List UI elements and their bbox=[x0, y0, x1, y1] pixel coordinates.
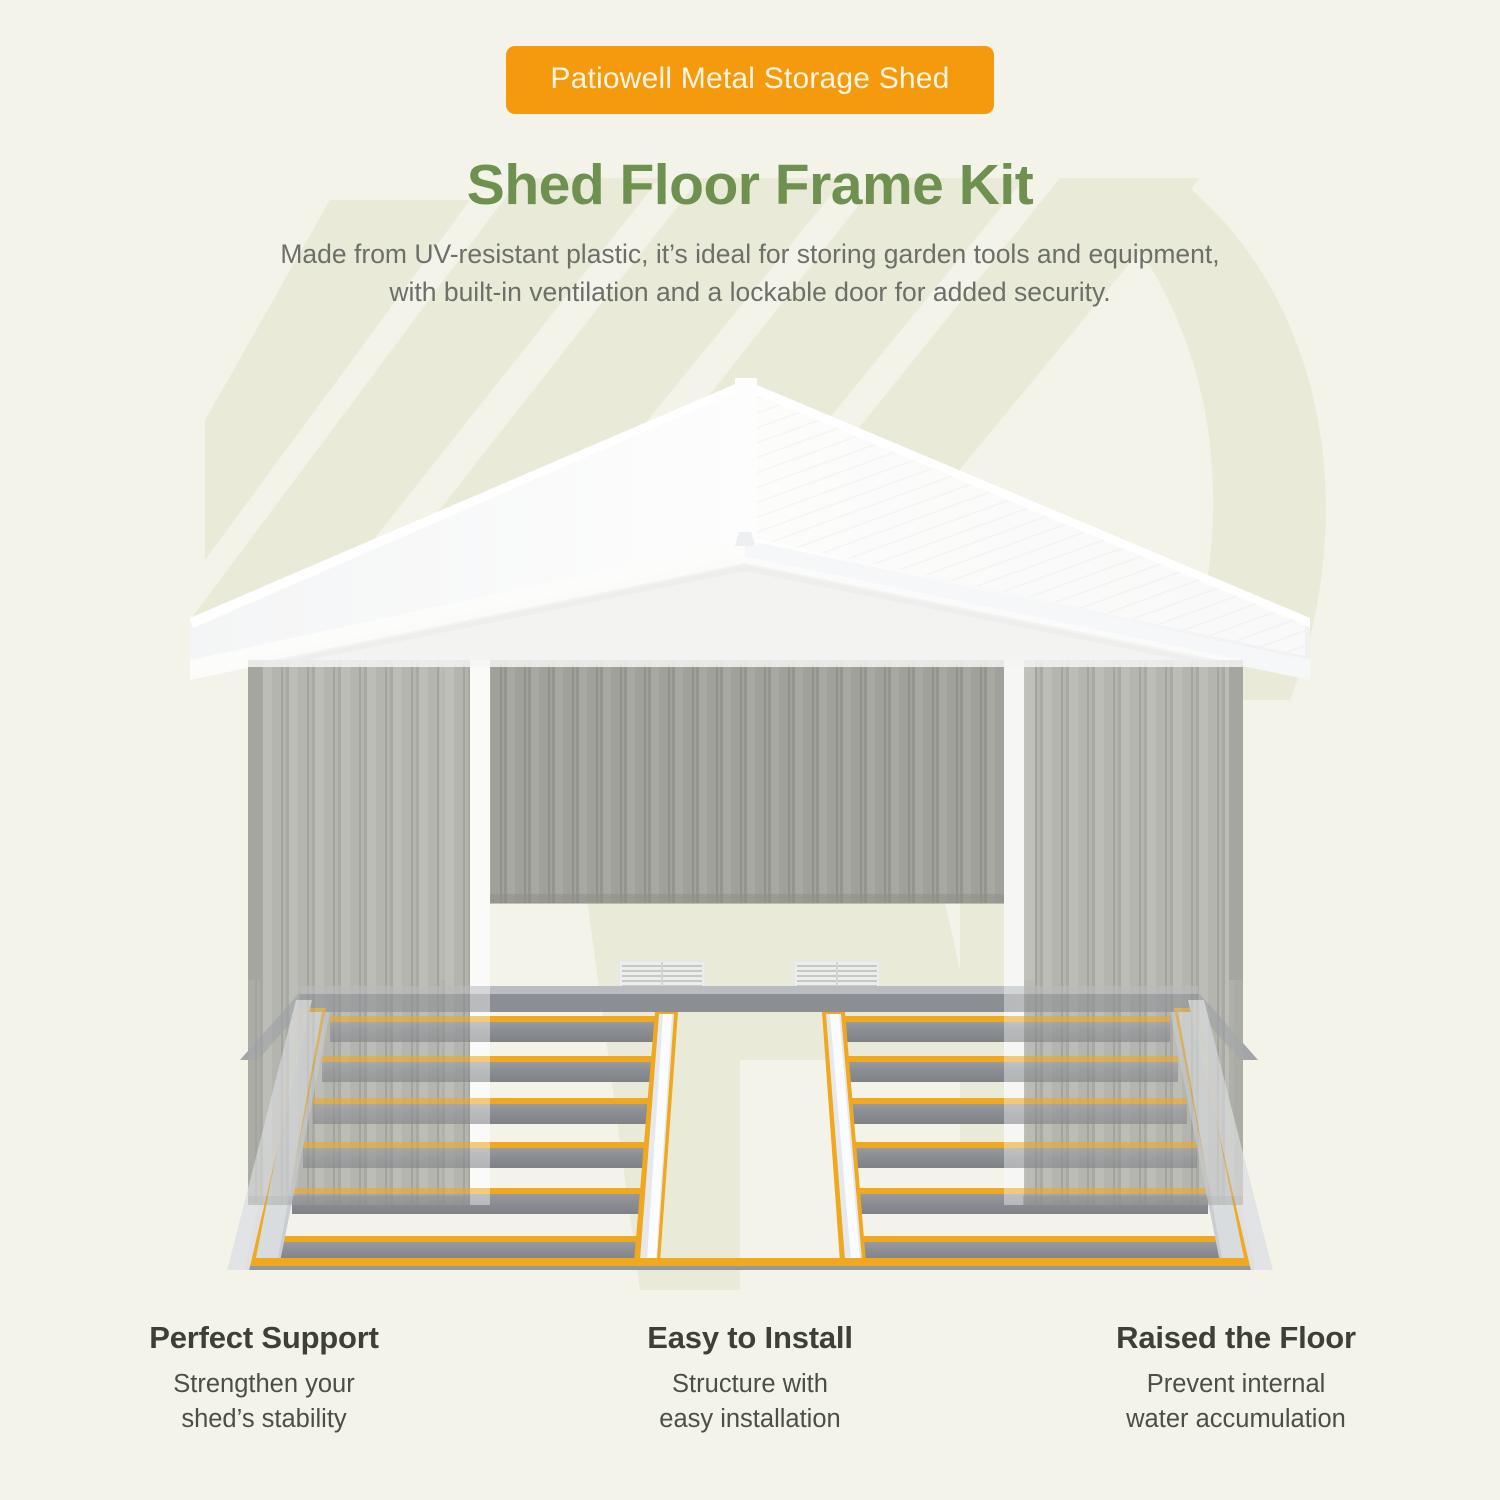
frame-center-rail-right bbox=[822, 1012, 866, 1262]
subtitle-line-1: Made from UV-resistant plastic, it’s ide… bbox=[0, 236, 1500, 274]
feature-title: Easy to Install bbox=[590, 1320, 910, 1356]
feature-description: Prevent internal water accumulation bbox=[1076, 1367, 1396, 1438]
feature-description: Structure with easy installation bbox=[590, 1367, 910, 1438]
wall-ghost-overlay bbox=[248, 980, 1243, 1205]
feature-description: Strengthen your shed’s stability bbox=[104, 1367, 424, 1438]
brand-badge: Patiowell Metal Storage Shed bbox=[506, 46, 993, 114]
feature-desc-line-2: easy installation bbox=[590, 1402, 910, 1438]
feature-raised-the-floor: Raised the Floor Prevent internal water … bbox=[1076, 1320, 1396, 1438]
shed-interior-back-wall bbox=[489, 660, 1008, 904]
shed-illustration bbox=[0, 360, 1500, 1270]
frame-front-rail bbox=[232, 1258, 1268, 1270]
page-title: Shed Floor Frame Kit bbox=[0, 152, 1500, 218]
feature-desc-line-2: water accumulation bbox=[1076, 1402, 1396, 1438]
roof-ridge-cap bbox=[735, 378, 757, 546]
header: Patiowell Metal Storage Shed Shed Floor … bbox=[0, 0, 1500, 311]
wall-top-trim bbox=[248, 660, 1243, 667]
feature-list: Perfect Support Strengthen your shed’s s… bbox=[0, 1320, 1500, 1438]
product-image bbox=[0, 360, 1500, 1270]
feature-desc-line-1: Structure with bbox=[590, 1367, 910, 1403]
feature-title: Raised the Floor bbox=[1076, 1320, 1396, 1356]
feature-title: Perfect Support bbox=[104, 1320, 424, 1356]
frame-center-rail-left bbox=[634, 1012, 678, 1262]
feature-desc-line-1: Strengthen your bbox=[104, 1367, 424, 1403]
subtitle-line-2: with built-in ventilation and a lockable… bbox=[0, 274, 1500, 312]
feature-desc-line-2: shed’s stability bbox=[104, 1402, 424, 1438]
feature-perfect-support: Perfect Support Strengthen your shed’s s… bbox=[104, 1320, 424, 1438]
page-subtitle: Made from UV-resistant plastic, it’s ide… bbox=[0, 236, 1500, 311]
feature-desc-line-1: Prevent internal bbox=[1076, 1367, 1396, 1403]
feature-easy-to-install: Easy to Install Structure with easy inst… bbox=[590, 1320, 910, 1438]
